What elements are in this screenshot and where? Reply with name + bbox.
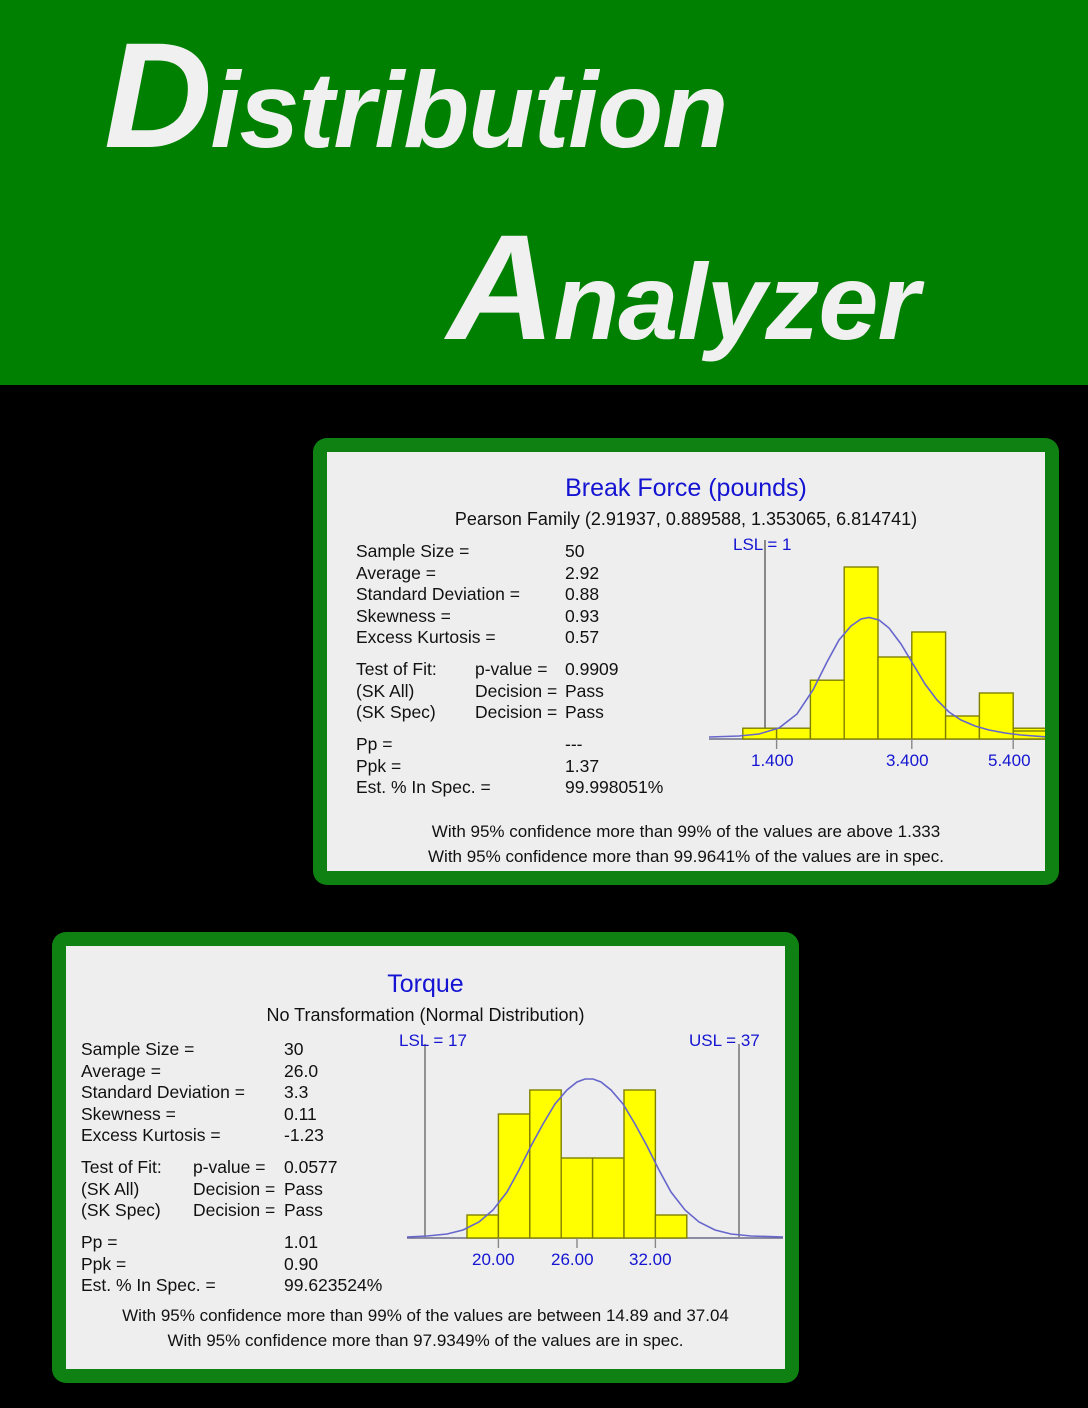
stat-sublabel: Decision = xyxy=(475,702,557,723)
stat-value: 0.88 xyxy=(565,584,599,605)
histogram-bar xyxy=(844,567,878,739)
stat-label: Test of Fit: xyxy=(356,659,437,680)
histogram-bars xyxy=(467,1090,687,1238)
histogram-svg xyxy=(709,538,1045,762)
stat-label: Standard Deviation = xyxy=(81,1082,245,1103)
stat-label: Ppk = xyxy=(81,1254,126,1275)
histogram-bar xyxy=(946,716,980,739)
app-title-banner: Distribution Analyzer xyxy=(0,0,1088,385)
x-tick-label: 32.00 xyxy=(629,1250,672,1270)
app-title-line-1: Distribution xyxy=(104,20,727,170)
stat-value: 0.57 xyxy=(565,627,599,648)
histogram-bar xyxy=(655,1215,686,1238)
histogram-bar xyxy=(498,1114,529,1238)
stat-value: Pass xyxy=(284,1179,323,1200)
app-title-line-1-capital: D xyxy=(104,11,210,179)
stat-label: Skewness = xyxy=(356,606,451,627)
lsl-label: LSL = 1 xyxy=(733,535,791,555)
histogram-chart-break-force: LSL = 1 xyxy=(709,538,1045,783)
stat-label: Standard Deviation = xyxy=(356,584,520,605)
stat-label: Sample Size = xyxy=(81,1039,194,1060)
stat-value: 0.93 xyxy=(565,606,599,627)
report-card-torque[interactable]: Torque No Transformation (Normal Distrib… xyxy=(52,932,799,1383)
stat-value: -1.23 xyxy=(284,1125,324,1146)
footnote-line: With 95% confidence more than 99.9641% o… xyxy=(327,845,1045,870)
stat-label: (SK Spec) xyxy=(356,702,436,723)
stat-value: 1.01 xyxy=(284,1232,318,1253)
lsl-label: LSL = 17 xyxy=(399,1031,467,1051)
histogram-bar xyxy=(878,657,912,739)
x-tick-label: 20.00 xyxy=(472,1250,515,1270)
stat-label: Sample Size = xyxy=(356,541,469,562)
histogram-bar xyxy=(561,1158,592,1238)
stat-label: (SK Spec) xyxy=(81,1200,161,1221)
stat-value: 30 xyxy=(284,1039,303,1060)
stat-value: 26.0 xyxy=(284,1061,318,1082)
x-tick-label: 3.400 xyxy=(886,751,929,771)
distribution-subtitle-break-force: Pearson Family (2.91937, 0.889588, 1.353… xyxy=(327,509,1045,530)
stat-sublabel: Decision = xyxy=(193,1200,275,1221)
stat-value: Pass xyxy=(565,702,604,723)
x-tick-label: 26.00 xyxy=(551,1250,594,1270)
stat-sublabel: p-value = xyxy=(475,659,547,680)
stat-label: Pp = xyxy=(356,734,393,755)
stat-label: Skewness = xyxy=(81,1104,176,1125)
stat-value: Pass xyxy=(284,1200,323,1221)
histogram-bar xyxy=(777,728,811,739)
distribution-subtitle-torque: No Transformation (Normal Distribution) xyxy=(66,1005,785,1026)
stat-sublabel: Decision = xyxy=(475,681,557,702)
stat-label: Test of Fit: xyxy=(81,1157,162,1178)
stat-value: 0.9909 xyxy=(565,659,619,680)
stat-value: 1.37 xyxy=(565,756,599,777)
histogram-bar xyxy=(530,1090,561,1238)
report-body-break-force: Break Force (pounds) Pearson Family (2.9… xyxy=(327,452,1045,871)
histogram-chart-torque: LSL = 17 USL = 37 xyxy=(399,1034,785,1284)
stat-value: 99.998051% xyxy=(565,777,663,798)
stat-value: 99.623524% xyxy=(284,1275,382,1296)
usl-label: USL = 37 xyxy=(689,1031,760,1051)
report-body-torque: Torque No Transformation (Normal Distrib… xyxy=(66,946,785,1369)
confidence-footnotes-torque: With 95% confidence more than 99% of the… xyxy=(66,1304,785,1353)
x-tick-label: 1.400 xyxy=(751,751,794,771)
footnote-line: With 95% confidence more than 99% of the… xyxy=(66,1304,785,1329)
stat-sublabel: p-value = xyxy=(193,1157,265,1178)
x-axis-ticks xyxy=(777,739,1014,749)
confidence-footnotes-break-force: With 95% confidence more than 99% of the… xyxy=(327,820,1045,869)
page-title-torque: Torque xyxy=(66,970,785,999)
stat-value: 50 xyxy=(565,541,584,562)
stat-label: Ppk = xyxy=(356,756,401,777)
report-card-break-force[interactable]: Break Force (pounds) Pearson Family (2.9… xyxy=(313,438,1059,885)
footnote-line: With 95% confidence more than 99% of the… xyxy=(327,820,1045,845)
histogram-bars xyxy=(743,567,1045,739)
histogram-bar xyxy=(912,632,946,739)
histogram-svg xyxy=(399,1034,785,1262)
x-tick-label: 5.400 xyxy=(988,751,1031,771)
stat-value: 0.90 xyxy=(284,1254,318,1275)
stat-label: Average = xyxy=(81,1061,161,1082)
stat-value: --- xyxy=(565,734,582,755)
stat-label: Est. % In Spec. = xyxy=(356,777,491,798)
stat-value: 3.3 xyxy=(284,1082,308,1103)
app-title-line-2-capital: A xyxy=(447,203,553,371)
app-title-line-2-rest: nalyzer xyxy=(553,241,918,362)
stat-label: Est. % In Spec. = xyxy=(81,1275,216,1296)
stat-value: Pass xyxy=(565,681,604,702)
stat-sublabel: Decision = xyxy=(193,1179,275,1200)
stat-value: 0.11 xyxy=(284,1104,317,1125)
stat-label: Excess Kurtosis = xyxy=(81,1125,221,1146)
stat-label: Excess Kurtosis = xyxy=(356,627,496,648)
stat-value: 2.92 xyxy=(565,563,599,584)
stat-label: Average = xyxy=(356,563,436,584)
app-title-line-2: Analyzer xyxy=(447,212,919,362)
stat-label: (SK All) xyxy=(356,681,414,702)
app-title-line-1-rest: istribution xyxy=(210,49,727,170)
stat-value: 0.0577 xyxy=(284,1157,338,1178)
histogram-bar xyxy=(593,1158,624,1238)
page-title-break-force: Break Force (pounds) xyxy=(327,474,1045,503)
histogram-bar xyxy=(810,680,844,739)
footnote-line: With 95% confidence more than 97.9349% o… xyxy=(66,1329,785,1354)
stat-label: (SK All) xyxy=(81,1179,139,1200)
stat-label: Pp = xyxy=(81,1232,118,1253)
x-axis-ticks xyxy=(498,1238,655,1248)
